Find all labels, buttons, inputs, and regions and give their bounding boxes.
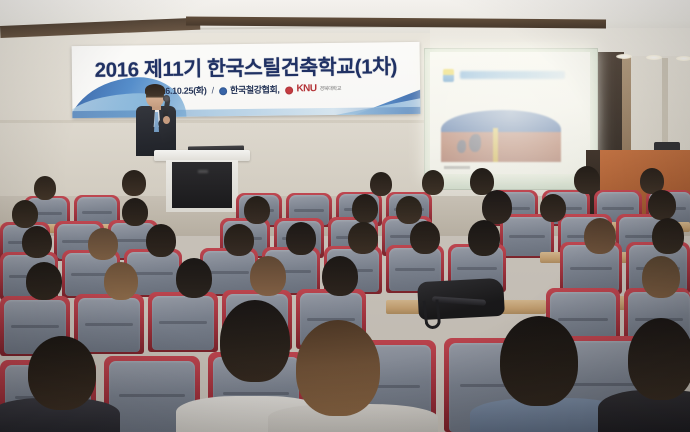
banner-title: 2016 제11기 한국스틸건축학교(1차) (72, 49, 420, 83)
audience-head-foreground (628, 318, 690, 400)
bag-handle (423, 299, 442, 330)
slide-title-text (460, 71, 565, 79)
audience-head (286, 222, 316, 255)
audience-head (410, 221, 440, 254)
audience-head (468, 220, 500, 256)
audience-head (352, 194, 378, 223)
audience-head (396, 196, 422, 224)
speaker-hair (145, 84, 165, 96)
slide-illustration-shape (457, 140, 466, 153)
audience-head (348, 222, 378, 254)
audience-head (482, 190, 512, 224)
audience-head (250, 256, 286, 296)
audience-head (146, 224, 176, 257)
slide-illustration (441, 110, 561, 162)
knu-logo-icon (285, 86, 293, 94)
event-banner: 2016 제11기 한국스틸건축학교(1차) 2016.10.25(화) / 한… (72, 42, 421, 118)
audience-head (648, 190, 676, 220)
banner-organizer: 한국철강협회, (230, 83, 280, 97)
seat (503, 217, 551, 256)
banner-knu-name: 경북대학교 (320, 85, 342, 92)
audience-head-foreground (220, 300, 290, 382)
slide-logo-icon (443, 69, 454, 82)
speaker-hand (163, 116, 170, 124)
audience-head (26, 262, 62, 300)
ceiling-light (676, 56, 690, 61)
ceiling-light (646, 55, 662, 60)
audience-head (322, 256, 358, 296)
audience-head (34, 176, 56, 200)
slide-illustration-beam (493, 128, 498, 162)
podium-highlight (198, 170, 208, 173)
banner-knu-mark: KNU (296, 83, 316, 94)
ceiling-light (616, 54, 632, 59)
audience-head (370, 172, 392, 196)
audience-head (574, 166, 600, 194)
audience-head (652, 218, 684, 254)
audience-head (244, 196, 270, 224)
audience-head (224, 224, 254, 256)
steel-association-logo-icon (219, 87, 227, 95)
slide-illustration-shape (469, 134, 481, 152)
audience-head-foreground (500, 316, 578, 406)
seat (152, 296, 214, 350)
slide-footer-text (444, 166, 470, 169)
audience-head-foreground (28, 336, 96, 410)
audience-head (422, 170, 444, 195)
audience-head (122, 198, 148, 226)
audience-head (122, 170, 146, 196)
wall-trim-band (0, 120, 430, 123)
audience-head (104, 262, 138, 300)
audience-head (540, 194, 566, 222)
audience-head (642, 256, 680, 298)
podium-front-panel (172, 162, 232, 208)
lecture-hall-photo: 2016 제11기 한국스틸건축학교(1차) 2016.10.25(화) / 한… (0, 0, 690, 432)
microphone-head-icon (163, 95, 170, 102)
audience-head (584, 218, 616, 254)
banner-separator: / (211, 85, 214, 95)
audience-head (12, 200, 38, 228)
audience-head (176, 258, 212, 298)
seat (78, 298, 140, 352)
audience-head (88, 228, 118, 260)
audience-head-foreground (296, 320, 380, 416)
slide-illustration-dome (441, 110, 561, 132)
audience-head (22, 226, 52, 258)
